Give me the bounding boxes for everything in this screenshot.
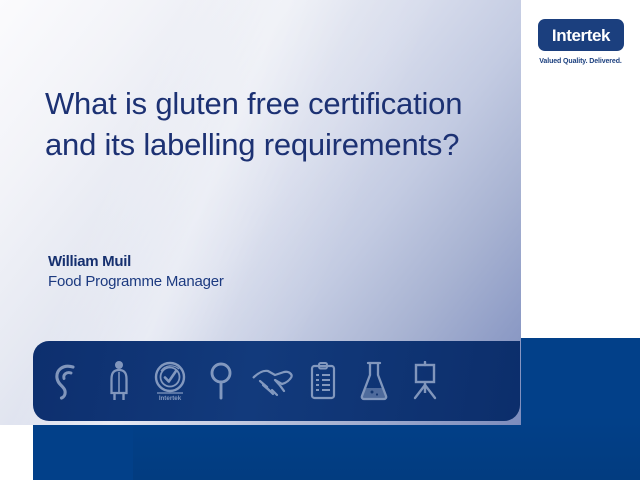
svg-text:Intertek: Intertek (159, 395, 182, 402)
flask-icon (353, 354, 395, 408)
presentation-slide: Intertek Valued Quality. Delivered. What… (0, 0, 640, 480)
logo-panel: Intertek Valued Quality. Delivered. (521, 0, 640, 338)
clipboard-icon (302, 354, 344, 408)
easel-icon (404, 354, 446, 408)
person-icon (98, 354, 140, 408)
presenter-role: Food Programme Manager (48, 272, 478, 292)
handshake-icon (251, 354, 293, 408)
icon-bar: Intertek (33, 341, 520, 421)
intertek-tagline: Valued Quality. Delivered. (521, 58, 640, 65)
slide-title: What is gluten free certification and it… (45, 84, 485, 166)
ear-icon (47, 354, 89, 408)
presenter-block: William Muil Food Programme Manager (48, 252, 478, 292)
presenter-name: William Muil (48, 252, 478, 272)
intertek-logo-text: Intertek (552, 27, 610, 44)
icon-row: Intertek (47, 354, 446, 408)
certification-mark-icon: Intertek (149, 354, 191, 408)
magnifier-icon (200, 354, 242, 408)
intertek-logo: Intertek (538, 19, 624, 51)
